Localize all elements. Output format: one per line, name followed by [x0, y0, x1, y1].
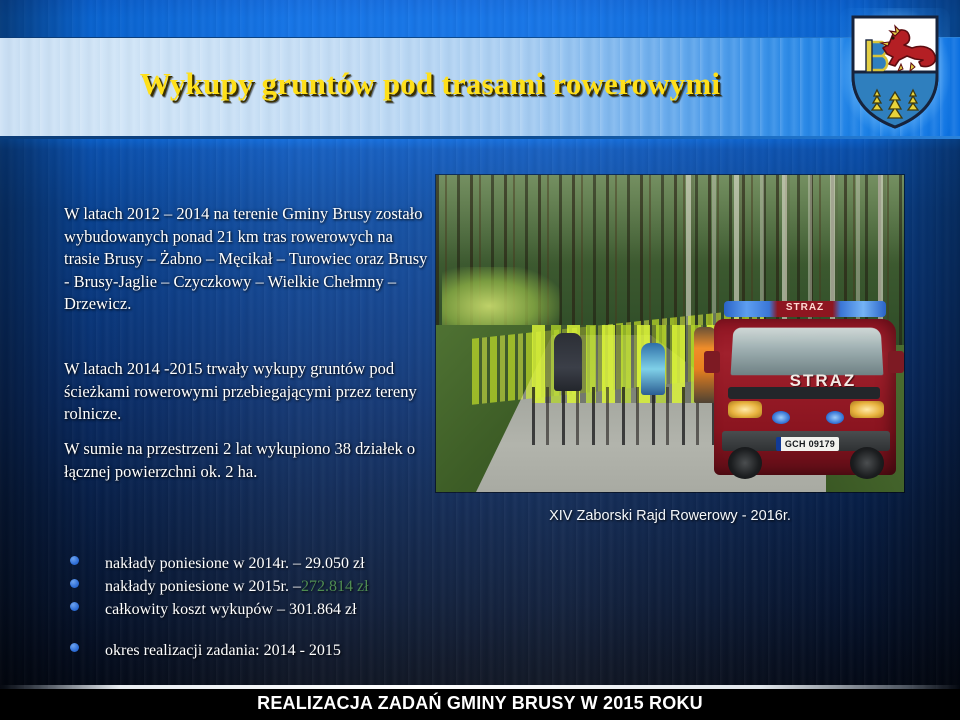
list-item: całkowity koszt wykupów – 301.864 zł — [70, 601, 490, 624]
photo-van-mirror-left — [704, 351, 720, 373]
photo-van-mirror-right — [888, 351, 904, 373]
footer-title: REALIZACJA ZADAŃ GMINY BRUSY W 2015 ROKU — [0, 693, 960, 714]
photo-lightbar-label: STRAZ — [766, 302, 844, 313]
photo-van-headlight-right — [850, 401, 884, 418]
paragraph-intro: W latach 2012 – 2014 na terenie Gminy Br… — [64, 203, 432, 316]
coat-of-arms — [840, 8, 950, 136]
photo-cyclist-blue-vest — [641, 343, 665, 395]
slide-title: Wykupy gruntów pod trasami rowerowymi — [60, 66, 800, 102]
list-item-label: całkowity koszt wykupów – 301.864 zł — [105, 601, 357, 619]
photo-van-windshield — [731, 328, 884, 376]
photo-lead-cyclist — [554, 333, 582, 391]
bullet-dot-icon — [70, 556, 79, 565]
list-item: nakłady poniesione w 2015r. – 272.814 zł — [70, 578, 490, 601]
bullet-list: nakłady poniesione w 2014r. – 29.050 zł … — [70, 555, 490, 665]
bullet-dot-icon — [70, 643, 79, 652]
bullet-dot-icon — [70, 579, 79, 588]
list-item: okres realizacji zadania: 2014 - 2015 — [70, 642, 490, 665]
list-item: nakłady poniesione w 2014r. – 29.050 zł — [70, 555, 490, 578]
photo-van-license-plate: GCH 09179 — [776, 437, 839, 451]
photo-van-grille — [728, 387, 880, 399]
photo-van-blue-lamp-left — [772, 411, 790, 424]
photo-van-headlight-left — [728, 401, 762, 418]
paragraph-purchases: W latach 2014 -2015 trwały wykupy gruntó… — [64, 358, 424, 426]
photo-van-wheel-right — [850, 447, 884, 479]
list-item-highlight-amount: 272.814 zł — [301, 578, 369, 596]
presentation-slide: Wykupy gruntów pod trasami rowerowymi — [0, 0, 960, 720]
list-item-label: nakłady poniesione w 2015r. – — [105, 578, 301, 596]
rally-photo: STRAZ STRAZ GCH 09179 — [436, 175, 904, 492]
photo-van-wheel-left — [728, 447, 762, 479]
bullet-dot-icon — [70, 602, 79, 611]
photo-caption: XIV Zaborski Rajd Rowerowy - 2016r. — [436, 508, 904, 524]
photo-van-blue-lamp-right — [826, 411, 844, 424]
header-band-bottom-rule — [0, 136, 960, 139]
list-item-label: nakłady poniesione w 2014r. – 29.050 zł — [105, 555, 365, 573]
crest-shield-icon — [849, 14, 941, 130]
paragraph-summary: W sumie na przestrzeni 2 lat wykupiono 3… — [64, 438, 424, 483]
list-item-label: okres realizacji zadania: 2014 - 2015 — [105, 642, 341, 660]
